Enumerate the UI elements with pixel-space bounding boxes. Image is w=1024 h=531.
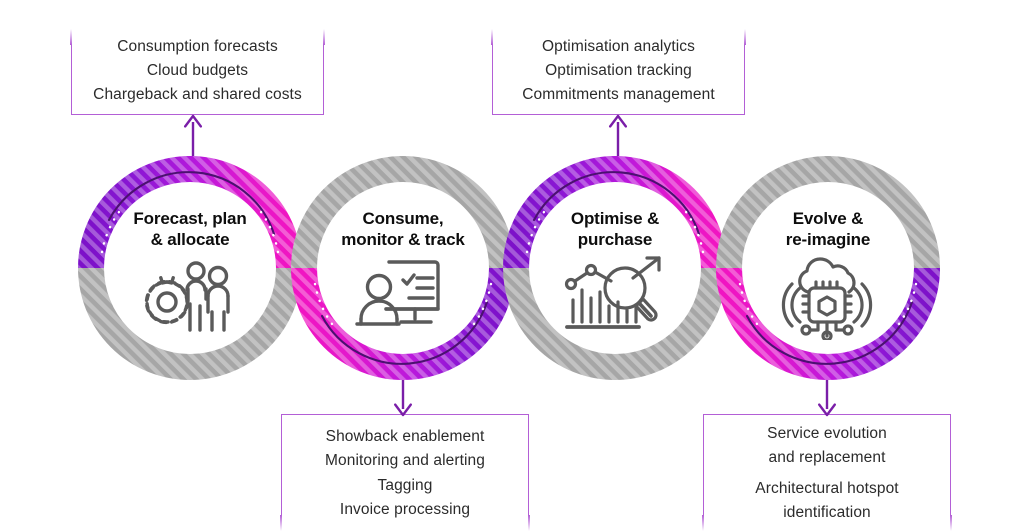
stage-ring-evolve[interactable]: Evolve & re-imagine [716, 156, 940, 380]
callout-line: Optimisation analytics [542, 35, 695, 59]
stage-label-evolve: Evolve & re-imagine [716, 209, 940, 250]
callout-line: Consumption forecasts [117, 35, 278, 59]
callout-optimise: Optimisation analytics Optimisation trac… [492, 30, 745, 115]
stage-label-forecast: Forecast, plan & allocate [78, 209, 302, 250]
cloud-chip-network-icon [778, 254, 878, 340]
stage-label-consume: Consume, monitor & track [291, 209, 515, 250]
callout-line: Service evolution [767, 422, 887, 446]
callout-line: Optimisation tracking [545, 59, 692, 83]
callout-line: Monitoring and alerting [325, 449, 485, 473]
gear-people-icon [140, 258, 240, 336]
arrow-up-forecast [182, 114, 204, 162]
stage-label-optimise: Optimise & purchase [503, 209, 727, 250]
diagram-canvas: Consumption forecasts Cloud budgets Char… [0, 0, 1024, 530]
callout-line: identification [783, 501, 871, 525]
callout-line: Cloud budgets [147, 59, 248, 83]
callout-consume: Showback enablement Monitoring and alert… [281, 414, 529, 530]
stage-ring-consume[interactable]: Consume, monitor & track [291, 156, 515, 380]
callout-line: Architectural hotspot [755, 477, 898, 501]
stage-ring-optimise[interactable]: Optimise & purchase [503, 156, 727, 380]
arrow-up-optimise [607, 114, 629, 162]
chart-magnifier-arrow-icon [563, 256, 667, 338]
callout-forecast: Consumption forecasts Cloud budgets Char… [71, 30, 324, 115]
callout-line: Commitments management [522, 83, 715, 107]
callout-line: Showback enablement [326, 425, 485, 449]
stage-ring-forecast[interactable]: Forecast, plan & allocate [78, 156, 302, 380]
callout-line: Invoice processing [340, 498, 470, 522]
person-monitor-checklist-icon [353, 256, 453, 336]
callout-line: and replacement [769, 446, 886, 470]
callout-evolve: Service evolution and replacement Archit… [703, 414, 951, 530]
callout-line: Chargeback and shared costs [93, 83, 302, 107]
callout-line: Tagging [378, 474, 433, 498]
